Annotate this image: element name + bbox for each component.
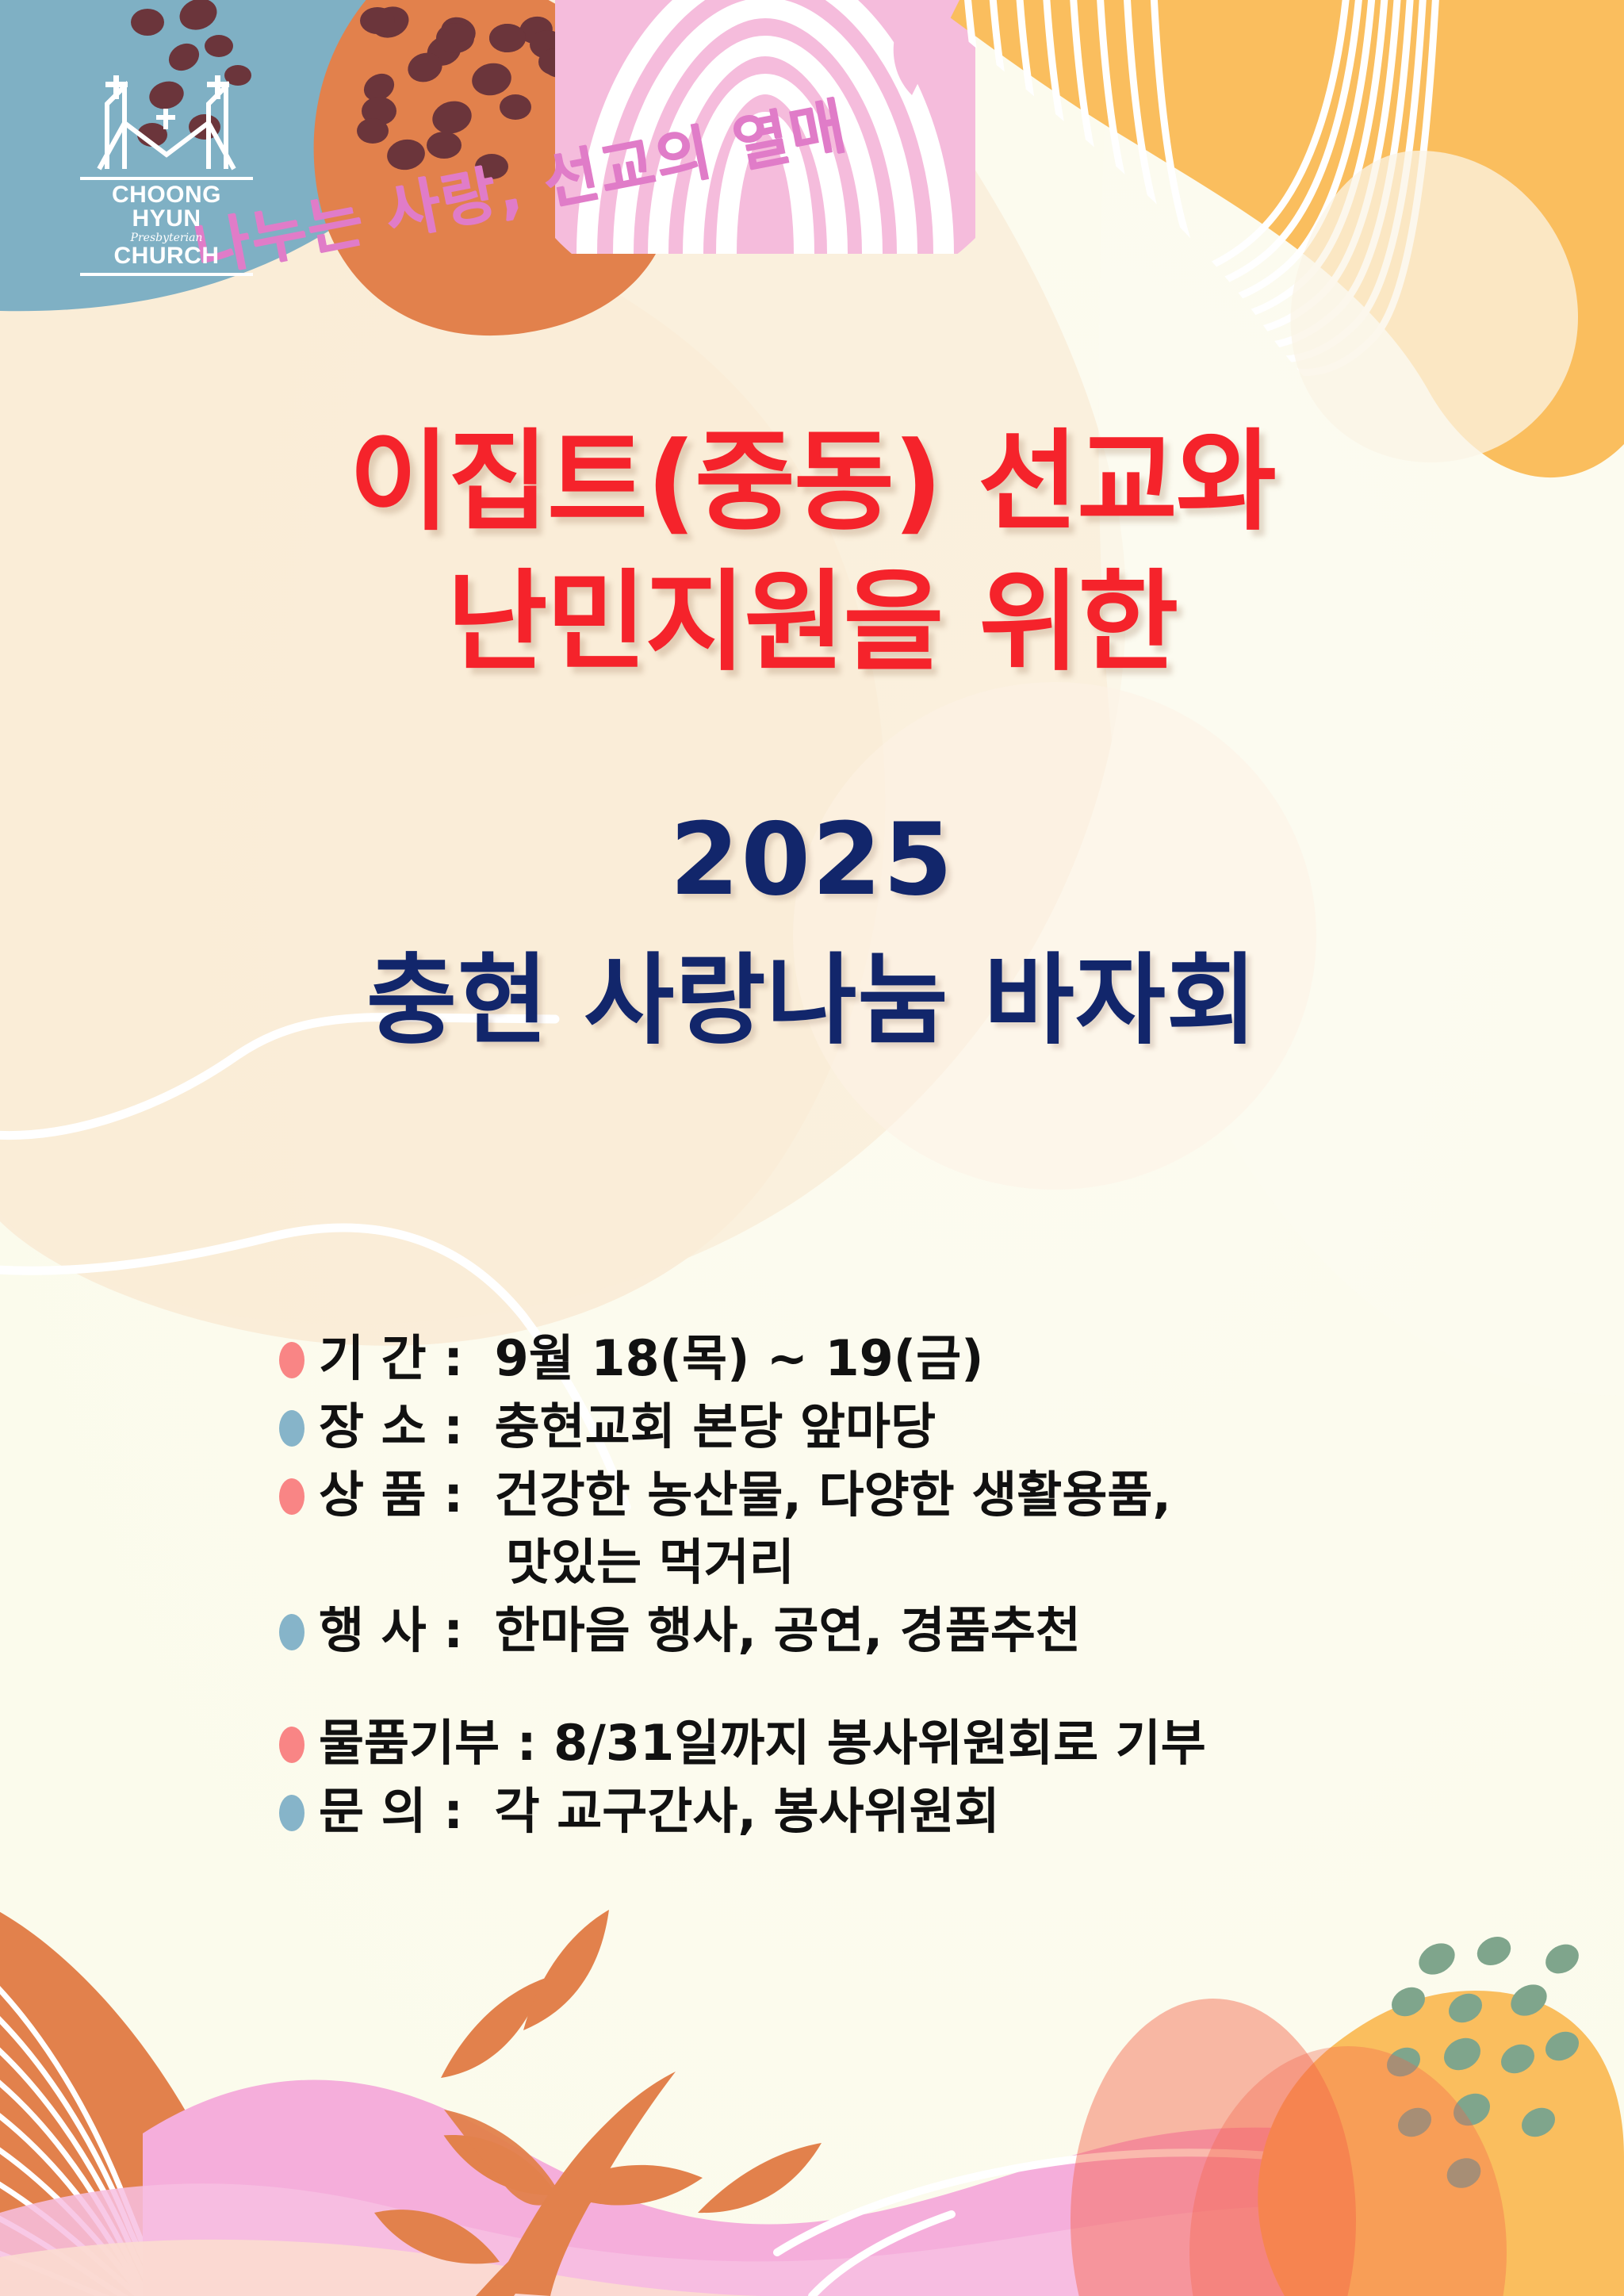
main-title: 이집트(중동) 선교와 난민지원을 위한 bbox=[0, 412, 1624, 692]
logo-line-choong-hyun: CHOONG HYUN bbox=[75, 183, 258, 231]
church-logo: CHOONG HYUN Presbyterian CHURCH bbox=[75, 75, 258, 234]
title-line-1: 이집트(중동) 선교와 bbox=[0, 412, 1624, 553]
detail-label: 기 간 : bbox=[319, 1326, 477, 1391]
three-crosses-church-icon bbox=[75, 75, 258, 177]
detail-label: 상 품 : bbox=[319, 1462, 477, 1527]
detail-gap bbox=[279, 1666, 1580, 1711]
bullet-icon bbox=[279, 1727, 304, 1763]
bullet-icon bbox=[279, 1342, 304, 1378]
detail-value: 맛있는 먹거리 bbox=[319, 1530, 795, 1595]
detail-row-location: 장 소 : 충현교회 본당 앞마당 bbox=[279, 1394, 1580, 1459]
bullet-spacer bbox=[279, 1546, 304, 1582]
details-list: 기 간 : 9월 18(목) ~ 19(금) 장 소 : 충현교회 본당 앞마당… bbox=[279, 1326, 1580, 1847]
logo-top-rule bbox=[80, 177, 253, 180]
detail-row-goods: 상 품 : 건강한 농산물, 다양한 생활용품, bbox=[279, 1462, 1580, 1527]
subtitle-block: 2025 충현 사랑나눔 바자회 bbox=[0, 801, 1624, 1063]
detail-text: 상 품 : 건강한 농산물, 다양한 생활용품, bbox=[319, 1462, 1171, 1527]
detail-value: 건강한 농산물, 다양한 생활용품, bbox=[495, 1466, 1171, 1524]
logo-line-church: CHURCH bbox=[75, 244, 258, 268]
event-year: 2025 bbox=[0, 801, 1624, 919]
detail-value: 각 교구간사, 봉사위원회 bbox=[495, 1782, 1000, 1840]
detail-label: 장 소 : bbox=[319, 1394, 477, 1459]
logo-line-presbyterian: Presbyterian bbox=[75, 232, 258, 243]
detail-row-donation: 물품기부 : 8/31일까지 봉사위원회로 기부 bbox=[279, 1711, 1580, 1776]
detail-text: 문 의 : 각 교구간사, 봉사위원회 bbox=[319, 1779, 1000, 1844]
detail-value: 충현교회 본당 앞마당 bbox=[495, 1397, 936, 1455]
title-line-2: 난민지원을 위한 bbox=[0, 553, 1624, 693]
poster-canvas: CHOONG HYUN Presbyterian CHURCH 나누는 사랑, … bbox=[0, 0, 1624, 2296]
detail-row-program: 행 사 : 한마음 행사, 공연, 경품추천 bbox=[279, 1598, 1580, 1663]
detail-row-period: 기 간 : 9월 18(목) ~ 19(금) bbox=[279, 1326, 1580, 1391]
detail-label: 문 의 : bbox=[319, 1779, 477, 1844]
logo-bottom-rule bbox=[80, 273, 253, 276]
detail-label: 행 사 : bbox=[319, 1598, 477, 1663]
detail-value: 9월 18(목) ~ 19(금) bbox=[495, 1329, 984, 1387]
event-name: 충현 사랑나눔 바자회 bbox=[0, 940, 1624, 1063]
bullet-icon bbox=[279, 1410, 304, 1447]
bullet-icon bbox=[279, 1478, 304, 1515]
detail-label: 물품기부 : bbox=[319, 1711, 537, 1776]
detail-text: 행 사 : 한마음 행사, 공연, 경품추천 bbox=[319, 1598, 1081, 1663]
bullet-icon bbox=[279, 1614, 304, 1650]
detail-value: 한마음 행사, 공연, 경품추천 bbox=[495, 1601, 1081, 1659]
detail-row-contact: 문 의 : 각 교구간사, 봉사위원회 bbox=[279, 1779, 1580, 1844]
bullet-icon bbox=[279, 1795, 304, 1831]
detail-value: 8/31일까지 봉사위원회로 기부 bbox=[553, 1714, 1206, 1772]
detail-row-goods-continued: 맛있는 먹거리 bbox=[279, 1530, 1580, 1595]
detail-text: 기 간 : 9월 18(목) ~ 19(금) bbox=[319, 1326, 983, 1391]
detail-text: 물품기부 : 8/31일까지 봉사위원회로 기부 bbox=[319, 1711, 1206, 1776]
background-decoration bbox=[0, 0, 1624, 2296]
detail-text: 장 소 : 충현교회 본당 앞마당 bbox=[319, 1394, 936, 1459]
